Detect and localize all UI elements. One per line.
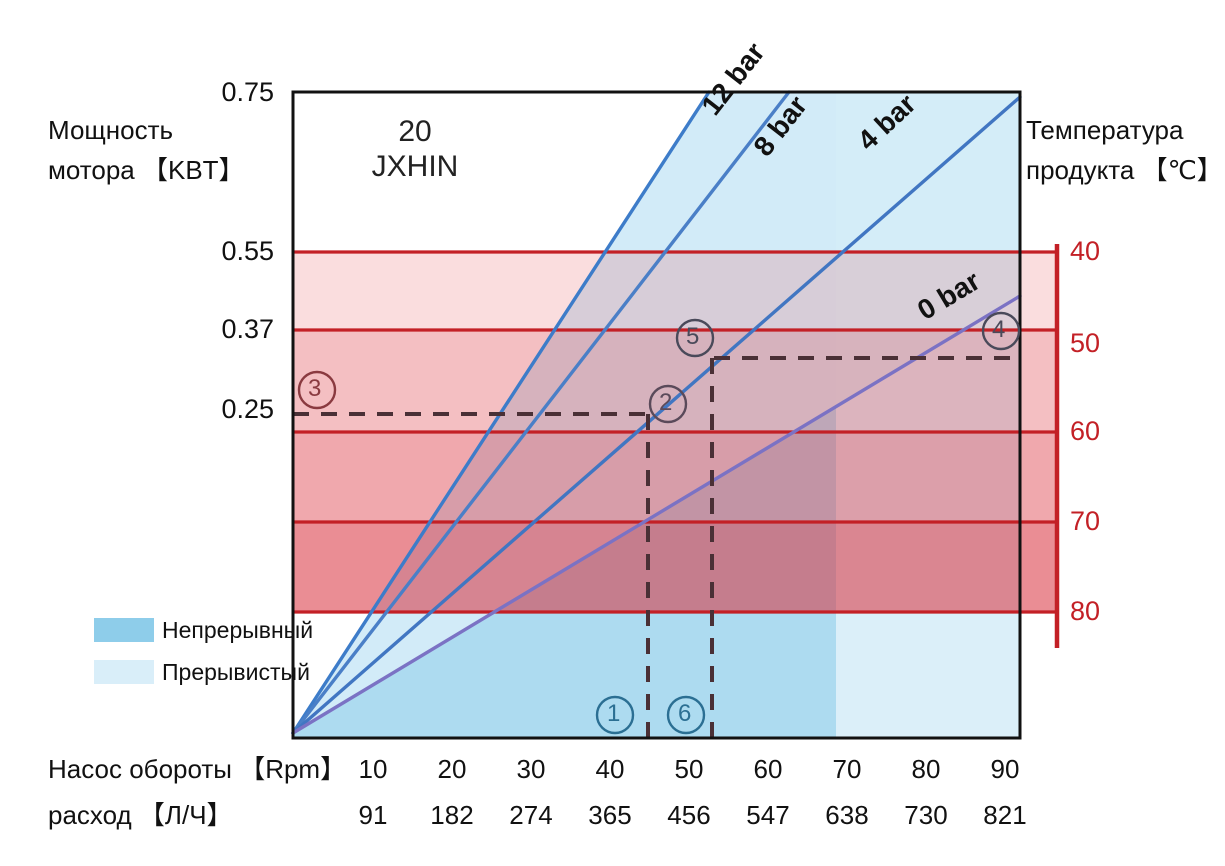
flow-value-3: 365 bbox=[570, 802, 650, 828]
rpm-row-label: Насос обороты 【Rpm】 bbox=[48, 756, 346, 782]
temp-tick-0: 40 bbox=[1070, 238, 1100, 265]
rpm-value-3: 40 bbox=[570, 756, 650, 782]
temp-tick-3: 70 bbox=[1070, 508, 1100, 535]
rpm-value-8: 90 bbox=[965, 756, 1045, 782]
power-axis-title-line1: Мощность bbox=[48, 112, 173, 150]
rpm-value-4: 50 bbox=[649, 756, 729, 782]
rpm-value-7: 80 bbox=[886, 756, 966, 782]
flow-value-8: 821 bbox=[965, 802, 1045, 828]
legend-swatch-continuous bbox=[94, 618, 154, 642]
flow-value-1: 182 bbox=[412, 802, 492, 828]
pump-performance-chart: 3 2 5 4 1 6 20 JXHIN Мощность мотора 【KB… bbox=[0, 0, 1225, 866]
flow-row-label: расход 【Л/Ч】 bbox=[48, 802, 233, 828]
marker-5: 5 bbox=[686, 325, 699, 349]
flow-value-0: 91 bbox=[333, 802, 413, 828]
flow-value-4: 456 bbox=[649, 802, 729, 828]
model-name: JXHIN bbox=[355, 148, 475, 186]
rpm-value-5: 60 bbox=[728, 756, 808, 782]
flow-value-7: 730 bbox=[886, 802, 966, 828]
rpm-value-1: 20 bbox=[412, 756, 492, 782]
rpm-value-0: 10 bbox=[333, 756, 413, 782]
marker-4: 4 bbox=[992, 318, 1005, 342]
temp-tick-1: 50 bbox=[1070, 330, 1100, 357]
temp-tick-2: 60 bbox=[1070, 418, 1100, 445]
power-tick-2: 0.37 bbox=[158, 316, 274, 343]
marker-1: 1 bbox=[607, 702, 620, 726]
temperature-axis-title-line2: продукта 【℃】 bbox=[1026, 152, 1223, 190]
marker-3: 3 bbox=[308, 377, 321, 401]
model-number: 20 bbox=[355, 113, 475, 151]
flow-value-2: 274 bbox=[491, 802, 571, 828]
rpm-value-6: 70 bbox=[807, 756, 887, 782]
legend-swatch-intermittent bbox=[94, 660, 154, 684]
legend-label-intermittent: Прерывистый bbox=[162, 661, 310, 684]
flow-value-6: 638 bbox=[807, 802, 887, 828]
flow-value-5: 547 bbox=[728, 802, 808, 828]
power-tick-3: 0.25 bbox=[158, 396, 274, 423]
marker-6: 6 bbox=[678, 702, 691, 726]
temperature-axis-title-line1: Температура bbox=[1026, 112, 1183, 150]
temp-tick-4: 80 bbox=[1070, 598, 1100, 625]
power-tick-0: 0.75 bbox=[158, 79, 274, 106]
power-tick-1: 0.55 bbox=[158, 238, 274, 265]
rpm-value-2: 30 bbox=[491, 756, 571, 782]
marker-2: 2 bbox=[659, 391, 672, 415]
power-axis-title-line2: мотора 【KBT】 bbox=[48, 152, 245, 190]
legend-label-continuous: Непрерывный bbox=[162, 619, 313, 642]
